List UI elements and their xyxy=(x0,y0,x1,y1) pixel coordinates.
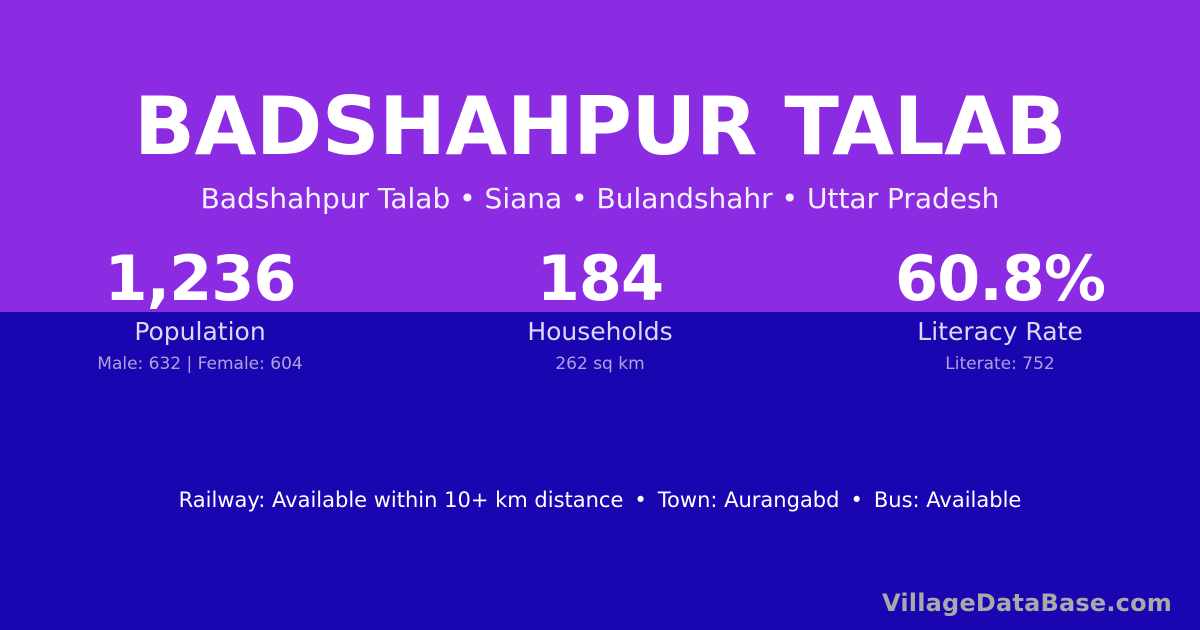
stat-label: Population xyxy=(0,317,400,347)
stat-value: 60.8% xyxy=(800,243,1200,315)
facility-strip: Railway: Available within 10+ km distanc… xyxy=(0,486,1200,514)
site-brand: VillageDataBase.com xyxy=(882,588,1172,618)
facility-separator-icon: • xyxy=(839,486,873,514)
stat-value: 1,236 xyxy=(0,243,400,315)
stat-subtext: Literate: 752 xyxy=(800,354,1200,375)
stat-subtext: 262 sq km xyxy=(400,354,800,375)
stat-label: Households xyxy=(400,317,800,347)
stat-label: Literacy Rate xyxy=(800,317,1200,347)
stats-row: 1,236 Population Male: 632 | Female: 604… xyxy=(0,243,1200,375)
stat-subtext: Male: 632 | Female: 604 xyxy=(0,354,400,375)
stat-literacy-rate: 60.8% Literacy Rate Literate: 752 xyxy=(800,243,1200,375)
facility-town: Town: Aurangabd xyxy=(658,488,840,512)
breadcrumb: Badshahpur Talab • Siana • Bulandshahr •… xyxy=(0,182,1200,216)
stat-population: 1,236 Population Male: 632 | Female: 604 xyxy=(0,243,400,375)
stat-value: 184 xyxy=(400,243,800,315)
stat-households: 184 Households 262 sq km xyxy=(400,243,800,375)
facility-railway: Railway: Available within 10+ km distanc… xyxy=(179,488,624,512)
page-title: BADSHAHPUR TALAB xyxy=(0,81,1200,173)
facility-bus: Bus: Available xyxy=(874,488,1021,512)
facility-separator-icon: • xyxy=(623,486,657,514)
village-info-card: BADSHAHPUR TALAB Badshahpur Talab • Sian… xyxy=(0,0,1200,630)
